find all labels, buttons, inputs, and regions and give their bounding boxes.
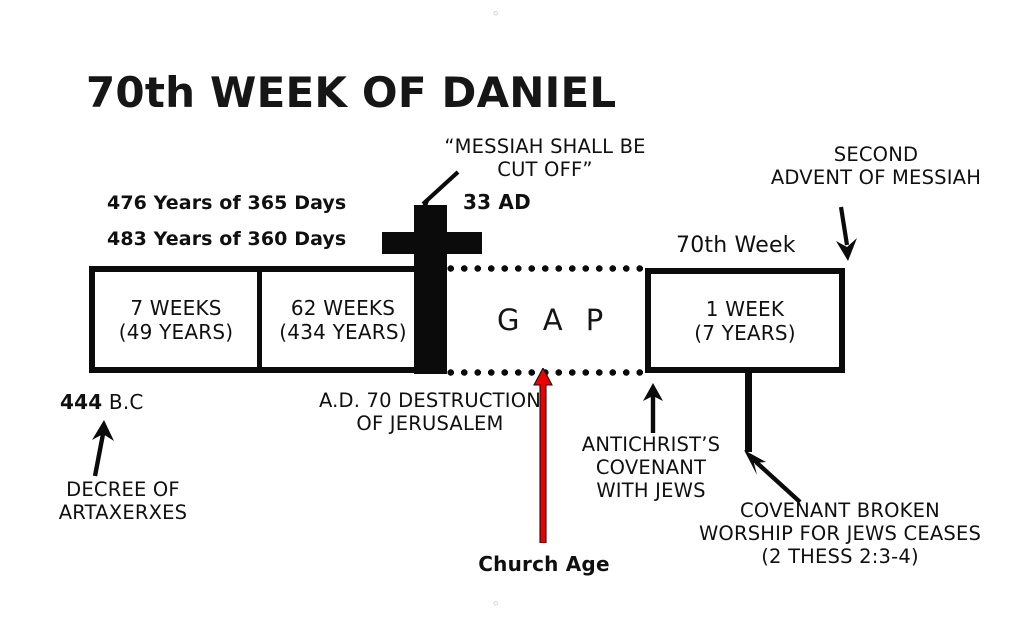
- timeline-segment-seven-weeks: 7 WEEKS (49 YEARS): [95, 272, 257, 367]
- timeline-box-first-69-weeks: 7 WEEKS (49 YEARS) 62 WEEKS (434 YEARS): [89, 266, 430, 373]
- label-antichrists-covenant-with-jews: ANTICHRIST’S COVENANT WITH JEWS: [548, 433, 754, 502]
- timeline-segment-gap-label: G A P: [497, 303, 610, 337]
- daniel-70th-week-diagram: ° ° 70th WEEK OF DANIEL 476 Years of 365…: [0, 0, 1009, 619]
- label-decree-of-artaxerxes: DECREE OF ARTAXERXES: [8, 478, 238, 524]
- faint-bottom-mark: °: [492, 598, 500, 616]
- gap-dotted-line-top: [444, 265, 648, 272]
- second-advent-arrow-icon: [828, 205, 868, 263]
- timeline-segment-sixty-two-weeks: 62 WEEKS (434 YEARS): [257, 272, 424, 367]
- covenant-broken-arrow-icon: [736, 446, 808, 506]
- decree-arrow-icon: [72, 418, 122, 480]
- antichrist-covenant-arrow-icon: [638, 383, 668, 435]
- faint-top-mark: °: [492, 8, 500, 26]
- label-476-years-365-days: 476 Years of 365 Days: [107, 192, 346, 214]
- label-church-age: Church Age: [470, 552, 618, 576]
- label-covenant-broken: COVENANT BROKEN WORSHIP FOR JEWS CEASES …: [672, 499, 1008, 568]
- label-483-years-360-days: 483 Years of 360 Days: [107, 228, 346, 250]
- covenant-broken-tick-line: [745, 372, 752, 452]
- cross-horizontal-beam-icon: [382, 232, 482, 254]
- cross-vertical-beam-icon: [414, 205, 447, 374]
- page-title: 70th WEEK OF DANIEL: [86, 68, 616, 117]
- timeline-box-seventieth-week: 1 WEEK (7 YEARS): [645, 268, 845, 373]
- timeline-segment-one-week-label: 1 WEEK (7 YEARS): [694, 297, 796, 345]
- timeline-segment-sixty-two-weeks-label: 62 WEEKS (434 YEARS): [279, 296, 406, 344]
- label-70th-week: 70th Week: [676, 233, 796, 258]
- label-second-advent: SECOND ADVENT OF MESSIAH: [742, 143, 1009, 189]
- label-444-bc: 444 B.C: [60, 390, 144, 414]
- label-444-bc-number: 444: [60, 390, 102, 414]
- label-ad70-destruction-of-jerusalem: A.D. 70 DESTRUCTION OF JERUSALEM: [285, 389, 575, 435]
- label-33-ad: 33 AD: [463, 190, 531, 214]
- timeline-segment-seven-weeks-label: 7 WEEKS (49 YEARS): [119, 296, 234, 344]
- label-444-bc-era: B.C: [102, 390, 143, 414]
